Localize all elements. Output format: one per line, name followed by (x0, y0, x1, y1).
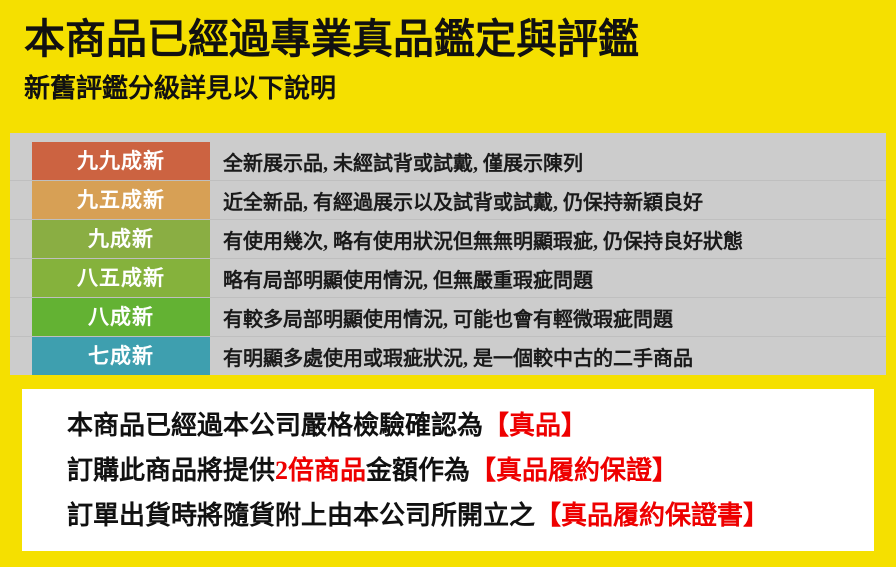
guarantee-line-1-highlight: 【真品】 (483, 411, 587, 440)
guarantee-line-2: 訂購此商品將提供2倍商品金額作為【真品履約保證】 (67, 448, 874, 493)
guarantee-line-3-text: 訂單出貨時將隨貨附上由本公司所開立之 (67, 501, 535, 530)
grade-description: 有使用幾次, 略有使用狀況但無無明顯瑕疵, 仍保持良好狀態 (210, 220, 886, 258)
guarantee-line-2-highlight: 【真品履約保證】 (470, 456, 678, 485)
guarantee-line-3: 訂單出貨時將隨貨附上由本公司所開立之【真品履約保證書】 (67, 493, 874, 538)
table-row: 八五成新 略有局部明顯使用情況, 但無嚴重瑕疵問題 (10, 259, 886, 298)
guarantee-line-2-multiplier: 2倍商品 (275, 456, 366, 485)
grade-description: 有明顯多處使用或瑕疵狀況, 是一個較中古的二手商品 (210, 337, 886, 375)
grade-table: 九九成新 全新展示品, 未經試背或試戴, 僅展示陳列 九五成新 近全新品, 有經… (10, 133, 886, 375)
table-row: 九成新 有使用幾次, 略有使用狀況但無無明顯瑕疵, 仍保持良好狀態 (10, 220, 886, 259)
grade-badge: 九五成新 (32, 181, 210, 219)
grade-badge: 八五成新 (32, 259, 210, 297)
guarantee-line-1: 本商品已經過本公司嚴格檢驗確認為【真品】 (67, 403, 874, 448)
guarantee-line-2-text-2: 金額作為 (366, 456, 470, 485)
grade-description: 略有局部明顯使用情況, 但無嚴重瑕疵問題 (210, 259, 886, 297)
grade-description: 全新展示品, 未經試背或試戴, 僅展示陳列 (210, 142, 886, 180)
banner-header: 本商品已經過專業真品鑑定與評鑑 新舊評鑑分級詳見以下說明 (0, 0, 896, 133)
promo-banner: 本商品已經過專業真品鑑定與評鑑 新舊評鑑分級詳見以下說明 九九成新 全新展示品,… (0, 0, 896, 567)
grade-description: 有較多局部明顯使用情況, 可能也會有輕微瑕疵問題 (210, 298, 886, 336)
table-row: 七成新 有明顯多處使用或瑕疵狀況, 是一個較中古的二手商品 (10, 337, 886, 375)
guarantee-line-1-text: 本商品已經過本公司嚴格檢驗確認為 (67, 411, 483, 440)
grade-badge: 九成新 (32, 220, 210, 258)
guarantee-line-3-highlight: 【真品履約保證書】 (535, 501, 769, 530)
guarantee-card: 本商品已經過本公司嚴格檢驗確認為【真品】 訂購此商品將提供2倍商品金額作為【真品… (22, 389, 874, 551)
page-subtitle: 新舊評鑑分級詳見以下說明 (24, 72, 896, 106)
guarantee-line-2-text: 訂購此商品將提供 (67, 456, 275, 485)
grade-badge: 九九成新 (32, 142, 210, 180)
grade-description: 近全新品, 有經過展示以及試背或試戴, 仍保持新穎良好 (210, 181, 886, 219)
table-row: 八成新 有較多局部明顯使用情況, 可能也會有輕微瑕疵問題 (10, 298, 886, 337)
grade-badge: 八成新 (32, 298, 210, 336)
grade-badge: 七成新 (32, 337, 210, 375)
page-title: 本商品已經過專業真品鑑定與評鑑 (24, 14, 896, 64)
table-row: 九九成新 全新展示品, 未經試背或試戴, 僅展示陳列 (10, 142, 886, 181)
table-row: 九五成新 近全新品, 有經過展示以及試背或試戴, 仍保持新穎良好 (10, 181, 886, 220)
